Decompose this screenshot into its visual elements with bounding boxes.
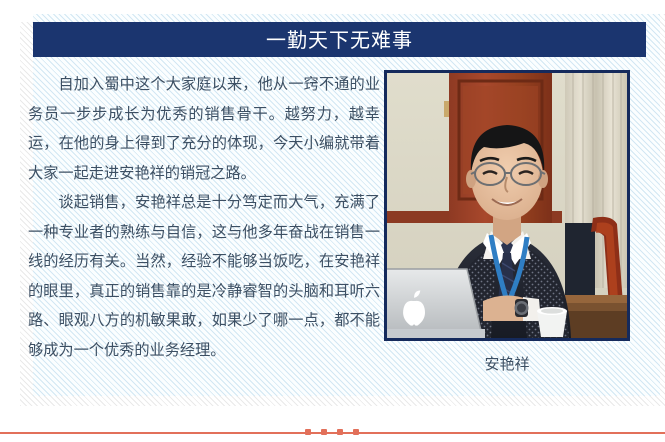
footer-dot-2 <box>321 429 327 435</box>
top-left-corner-mask <box>20 14 33 22</box>
footer-divider-line <box>0 432 665 434</box>
article-page: 一勤天下无难事 自加入蜀中这个大家庭以来，他从一窍不通的业务员一步步成长为优秀的… <box>0 0 665 442</box>
article-paragraph-2: 谈起销售，安艳祥总是十分笃定而大气，充满了一种专业者的熟练与自信，这与他多年奋战… <box>28 188 380 365</box>
portrait-photo <box>384 70 630 341</box>
article-body: 自加入蜀中这个大家庭以来，他从一窍不通的业务员一步步成长为优秀的销售骨干。越努力… <box>28 70 380 365</box>
footer-dot-3 <box>337 429 343 435</box>
footer-dot-4 <box>353 429 359 435</box>
portrait-photo-image <box>387 73 627 338</box>
title-banner-text: 一勤天下无难事 <box>266 30 413 50</box>
left-page-margin <box>0 0 20 442</box>
top-page-margin <box>0 0 665 14</box>
title-banner: 一勤天下无难事 <box>33 22 646 57</box>
footer-divider <box>0 427 665 439</box>
article-paragraph-1: 自加入蜀中这个大家庭以来，他从一窍不通的业务员一步步成长为优秀的销售骨干。越努力… <box>28 70 380 188</box>
footer-dot-1 <box>305 429 311 435</box>
photo-caption: 安艳祥 <box>384 353 630 374</box>
